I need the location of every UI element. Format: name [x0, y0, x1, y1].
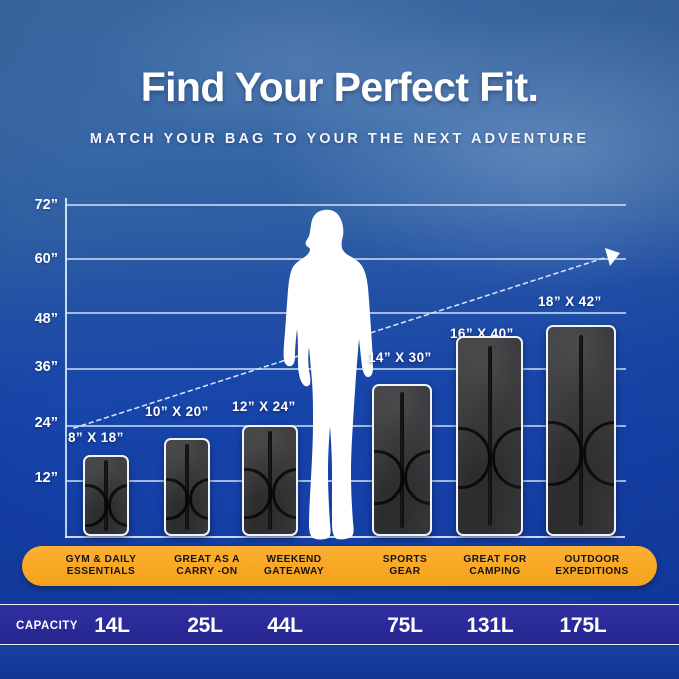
- category-cell-3[interactable]: SPORTSGEAR: [360, 552, 450, 580]
- category-line-2: GEAR: [389, 566, 420, 578]
- bag-3[interactable]: [372, 384, 432, 536]
- category-cell-2[interactable]: WEEKENDGATEAWAY: [244, 552, 344, 580]
- category-line-1: WEEKEND: [266, 554, 321, 566]
- capacity-bar: CAPACITY 14L25L44L75L131L175L: [0, 604, 679, 645]
- bag-sheen: [85, 457, 127, 534]
- bag-dimension-label-5: 18” X 42”: [538, 294, 602, 309]
- category-line-1: GREAT AS A: [174, 554, 240, 566]
- bag-dimension-label-2: 12” X 24”: [232, 399, 296, 414]
- category-cell-4[interactable]: GREAT FORCAMPING: [445, 552, 545, 580]
- bag-dimension-label-0: 8” X 18”: [68, 430, 124, 445]
- category-bar: GYM & DAILYESSENTIALSGREAT AS ACARRY -ON…: [22, 546, 657, 586]
- category-line-2: GATEAWAY: [264, 566, 324, 578]
- category-line-1: OUTDOOR: [564, 554, 619, 566]
- category-line-2: ESSENTIALS: [67, 566, 135, 578]
- bag-dimension-label-1: 10” X 20”: [145, 404, 209, 419]
- category-line-2: CAMPING: [469, 566, 520, 578]
- category-cell-0[interactable]: GYM & DAILYESSENTIALS: [46, 552, 156, 580]
- footer-band: [0, 646, 679, 679]
- y-tick-label-2: 48”: [6, 311, 58, 327]
- bag-sheen: [458, 338, 521, 534]
- infographic-canvas: Find Your Perfect Fit. MATCH YOUR BAG TO…: [0, 0, 679, 679]
- category-line-1: SPORTS: [383, 554, 428, 566]
- page-title: Find Your Perfect Fit.: [0, 64, 679, 111]
- bag-sheen: [166, 440, 208, 534]
- bag-5[interactable]: [546, 325, 616, 536]
- y-tick-label-4: 24”: [6, 415, 58, 431]
- gridline-72: [66, 204, 626, 206]
- bag-2[interactable]: [242, 425, 298, 536]
- category-cell-5[interactable]: OUTDOOREXPEDITIONS: [537, 552, 647, 580]
- y-tick-label-1: 60”: [6, 251, 58, 267]
- category-line-2: EXPEDITIONS: [555, 566, 628, 578]
- page-subtitle: MATCH YOUR BAG TO YOUR THE NEXT ADVENTUR…: [0, 131, 679, 147]
- bag-1[interactable]: [164, 438, 210, 536]
- category-line-1: GREAT FOR: [463, 554, 526, 566]
- bag-dimension-label-3: 14” X 30”: [368, 350, 432, 365]
- bag-0[interactable]: [83, 455, 129, 536]
- capacity-value-0: 14L: [62, 613, 162, 638]
- bag-sheen: [374, 386, 430, 534]
- category-cell-1[interactable]: GREAT AS ACARRY -ON: [157, 552, 257, 580]
- capacity-value-5: 175L: [528, 613, 638, 638]
- category-line-2: CARRY -ON: [176, 566, 237, 578]
- category-line-1: GYM & DAILY: [66, 554, 137, 566]
- capacity-value-2: 44L: [235, 613, 335, 638]
- bag-sheen: [244, 427, 296, 534]
- y-tick-label-5: 12”: [6, 470, 58, 486]
- bag-sheen: [548, 327, 614, 534]
- y-tick-label-3: 36”: [6, 359, 58, 375]
- capacity-value-4: 131L: [440, 613, 540, 638]
- y-tick-label-0: 72”: [6, 197, 58, 213]
- bag-4[interactable]: [456, 336, 523, 536]
